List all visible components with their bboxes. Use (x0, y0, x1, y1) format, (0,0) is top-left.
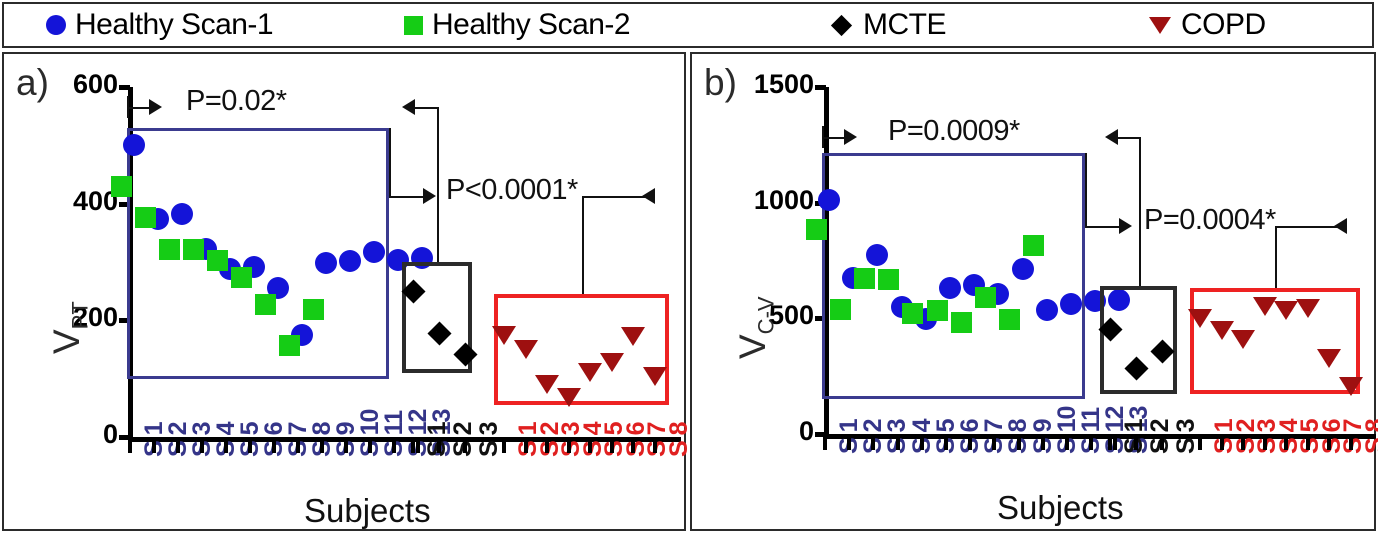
data-point-square (183, 239, 204, 260)
data-point-square (927, 300, 948, 321)
x-axis-tick-label: S 3 (1172, 419, 1201, 454)
x-axis-tick (248, 440, 252, 453)
x-axis-tick (1284, 437, 1288, 450)
arrow-right-icon (1119, 218, 1132, 234)
y-axis-tick-label: 0 (696, 416, 814, 447)
x-axis-tick (896, 437, 900, 450)
data-point-circle (939, 277, 961, 299)
legend-item-copd: COPD (1149, 4, 1266, 46)
figure-root: Healthy Scan-1Healthy Scan-2MCTECOPD a)0… (0, 0, 1378, 533)
data-point-triangle-down (578, 363, 602, 382)
annotation-line (822, 137, 844, 139)
data-point-square (806, 219, 827, 240)
x-axis-tick (1160, 437, 1164, 450)
x-axis-tick (296, 440, 300, 453)
x-axis-tick (152, 440, 156, 453)
y-axis-title: VC-V (732, 296, 779, 359)
panel-b: b)050010001500VC-VSubjectsS 1S 2S 3S 4S … (690, 52, 1376, 531)
data-point-square (878, 269, 899, 290)
arrow-left-icon (1105, 129, 1118, 145)
x-axis-tick (368, 440, 372, 453)
x-axis-tick (1327, 437, 1331, 450)
x-axis-tick (128, 440, 132, 453)
data-point-circle (866, 244, 888, 266)
annotation-line (415, 107, 437, 109)
annotation-label: P<0.0001* (446, 174, 578, 207)
y-axis-title-base: V (46, 329, 87, 354)
legend-item-healthy-scan-2: Healthy Scan-2 (404, 4, 630, 46)
data-point-triangle-down (1210, 321, 1234, 340)
data-point-triangle-down (557, 388, 581, 407)
annotation-line (1275, 226, 1347, 228)
data-point-triangle-down (492, 326, 516, 345)
annotation-line (1085, 226, 1119, 228)
data-point-square (159, 239, 180, 260)
data-point-square (975, 287, 996, 308)
legend-label: Healthy Scan-1 (75, 8, 273, 42)
x-axis-tick (653, 440, 657, 453)
y-axis-title-subscript: PT (67, 301, 92, 329)
annotation-line (389, 196, 423, 198)
data-point-circle (363, 241, 385, 263)
data-point-square (830, 299, 851, 320)
annotation-connector (389, 128, 391, 196)
x-axis-tick (437, 440, 441, 453)
x-axis-tick (1220, 437, 1224, 450)
y-axis-tick-label: 600 (0, 69, 118, 100)
x-axis-tick (847, 437, 851, 450)
data-point-circle (1060, 293, 1082, 315)
legend-label: Healthy Scan-2 (432, 8, 630, 42)
x-axis-tick (1241, 437, 1245, 450)
data-point-square (303, 299, 324, 320)
x-axis-tick (1198, 437, 1202, 450)
square-marker-icon (404, 16, 423, 35)
y-axis-tick-label: 1000 (696, 185, 814, 216)
x-axis-tick (871, 437, 875, 450)
y-axis-tick (815, 85, 826, 90)
arrow-left-icon (402, 99, 415, 115)
x-axis-tick (1134, 437, 1138, 450)
data-point-square (951, 312, 972, 333)
annotation-label: P=0.02* (186, 85, 287, 118)
annotation-connector (437, 107, 439, 262)
x-axis-tick (545, 440, 549, 453)
data-point-triangle-down (1188, 309, 1212, 328)
legend-label: MCTE (863, 8, 946, 42)
legend-item-healthy-scan-1: Healthy Scan-1 (46, 4, 273, 46)
data-point-triangle-down (1231, 330, 1255, 349)
x-axis-tick (224, 440, 228, 453)
x-axis-tick (920, 437, 924, 450)
data-point-square (1023, 235, 1044, 256)
legend-label: COPD (1181, 8, 1266, 42)
arrow-right-icon (844, 129, 857, 145)
x-axis-tick (416, 440, 420, 453)
diamond-marker-icon (831, 14, 852, 35)
data-point-triangle-down (621, 327, 645, 346)
data-point-triangle-down (1317, 349, 1341, 368)
y-axis-title-subscript: C-V (753, 296, 778, 334)
x-axis-tick (944, 437, 948, 450)
annotation-connector (1275, 226, 1277, 288)
x-axis-tick (1089, 437, 1093, 450)
x-axis-tick (1113, 437, 1117, 450)
triangle-down-marker-icon (1149, 17, 1171, 34)
y-axis-tick-label: 1500 (696, 69, 814, 100)
data-point-triangle-down (1339, 377, 1363, 396)
data-point-triangle-down (514, 340, 538, 359)
x-axis-tick (411, 440, 415, 453)
x-axis-tick (272, 440, 276, 453)
x-axis-tick (344, 440, 348, 453)
x-axis-tick (1349, 437, 1353, 450)
legend-item-mcte: MCTE (834, 4, 946, 46)
data-point-triangle-down (1274, 301, 1298, 320)
y-axis-tick (119, 85, 130, 90)
circle-marker-icon (46, 15, 66, 35)
x-axis-tick (588, 440, 592, 453)
x-axis-tick (200, 440, 204, 453)
x-axis-tick-label: S 8 (1361, 419, 1378, 454)
x-axis-tick (1041, 437, 1045, 450)
annotation-connector (1085, 153, 1087, 226)
x-axis-tick (1263, 437, 1267, 450)
x-axis-tick (320, 440, 324, 453)
x-axis-tick (176, 440, 180, 453)
x-axis-tick (1108, 437, 1112, 450)
data-point-circle (171, 203, 193, 225)
annotation-connector (582, 196, 584, 294)
data-point-square (255, 294, 276, 315)
data-point-triangle-down (600, 353, 624, 372)
x-axis-tick (567, 440, 571, 453)
data-point-square (999, 309, 1020, 330)
data-point-circle (315, 252, 337, 274)
x-axis-title: Subjects (997, 489, 1124, 527)
y-axis-title-base: V (732, 334, 773, 359)
data-point-triangle-down (1253, 297, 1277, 316)
x-axis-tick (968, 437, 972, 450)
x-axis-tick (463, 440, 467, 453)
figure-legend: Healthy Scan-1Healthy Scan-2MCTECOPD (2, 2, 1374, 48)
annotation-line (127, 107, 149, 109)
y-axis-tick-label: 0 (0, 419, 118, 450)
data-point-triangle-down (643, 367, 667, 386)
x-axis-tick (524, 440, 528, 453)
x-axis-tick (631, 440, 635, 453)
x-axis-tick (823, 437, 827, 450)
y-axis-tick-label: 400 (0, 186, 118, 217)
data-point-square (279, 335, 300, 356)
data-point-triangle-down (535, 375, 559, 394)
annotation-connector (1139, 137, 1141, 286)
data-point-square (854, 268, 875, 289)
x-axis-tick (992, 437, 996, 450)
x-axis-tick (1306, 437, 1310, 450)
data-point-circle (1012, 258, 1034, 280)
x-axis-tick (1017, 437, 1021, 450)
x-axis-tick (392, 440, 396, 453)
annotation-line (582, 196, 656, 198)
y-axis-title: VPT (46, 301, 93, 354)
x-axis-tick-label: S 3 (475, 422, 504, 457)
x-axis-title: Subjects (304, 492, 431, 530)
annotation-line (1118, 137, 1139, 139)
data-point-square (207, 250, 228, 271)
data-point-square (135, 207, 156, 228)
x-axis-tick (610, 440, 614, 453)
x-axis-tick (1065, 437, 1069, 450)
arrow-right-icon (149, 99, 162, 115)
x-axis-tick (502, 440, 506, 453)
data-point-triangle-down (1296, 299, 1320, 318)
data-point-square (902, 303, 923, 324)
data-point-square (111, 176, 132, 197)
panel-a: a)0200400600VPTSubjectsS 1S 2S 3S 4S 5S … (2, 52, 686, 531)
data-point-square (231, 267, 252, 288)
annotation-label: P=0.0009* (888, 115, 1020, 148)
arrow-right-icon (423, 188, 436, 204)
annotation-label: P=0.0004* (1144, 204, 1276, 237)
